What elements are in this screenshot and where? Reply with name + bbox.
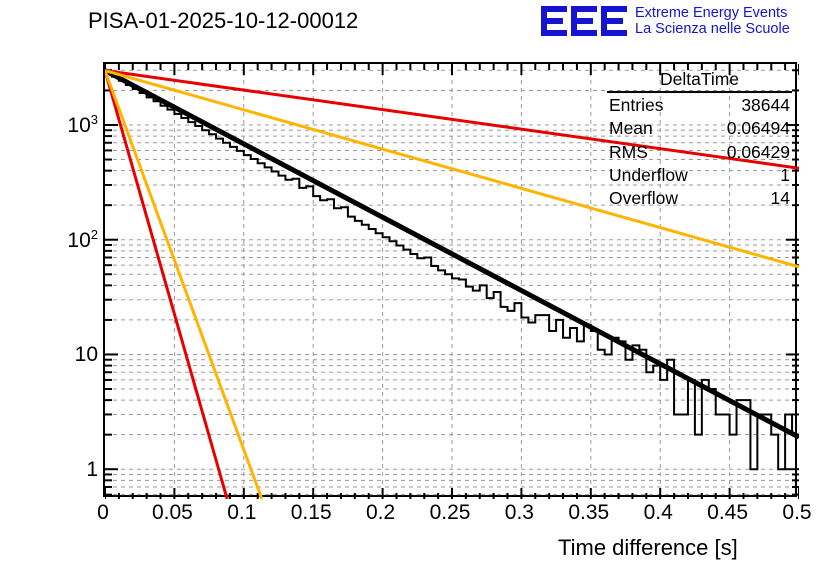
stats-box: DeltaTime Entries 38644 Mean 0.06494 RMS… (607, 69, 792, 210)
stats-key: Entries (609, 94, 663, 117)
x-tick-label: 0.35 (568, 501, 609, 525)
stats-key: Underflow (609, 164, 688, 187)
x-tick-label: 0.4 (644, 501, 673, 525)
x-tick-label: 0.5 (782, 501, 811, 525)
x-tick-label: 0.05 (152, 501, 193, 525)
stats-value: 1 (780, 164, 790, 187)
stats-box-title: DeltaTime (607, 69, 792, 93)
stats-value: 0.06429 (727, 141, 790, 164)
x-tick-label: 0.3 (505, 501, 534, 525)
x-axis-title: Time difference [s] (558, 535, 738, 561)
stats-row: Mean 0.06494 (607, 117, 792, 140)
x-tick-label: 0 (97, 501, 109, 525)
x-tick-label: 0.15 (291, 501, 332, 525)
x-tick-label: 0.1 (227, 501, 256, 525)
x-tick-label: 0.45 (707, 501, 748, 525)
stats-key: Overflow (609, 187, 678, 210)
stats-value: 14 (771, 187, 790, 210)
fit-line (105, 71, 262, 499)
stats-key: Mean (609, 117, 653, 140)
stats-row: RMS 0.06429 (607, 141, 792, 164)
x-tick-label: 0.25 (430, 501, 471, 525)
stats-value: 38644 (741, 94, 790, 117)
stats-key: RMS (609, 141, 648, 164)
stats-value: 0.06494 (727, 117, 790, 140)
x-tick-label: 0.2 (366, 501, 395, 525)
stats-row: Overflow 14 (607, 187, 792, 210)
stats-row: Entries 38644 (607, 94, 792, 117)
stats-row: Underflow 1 (607, 164, 792, 187)
chart-canvas: PISA-01-2025-10-12-00012 Extreme Energy … (0, 0, 836, 572)
